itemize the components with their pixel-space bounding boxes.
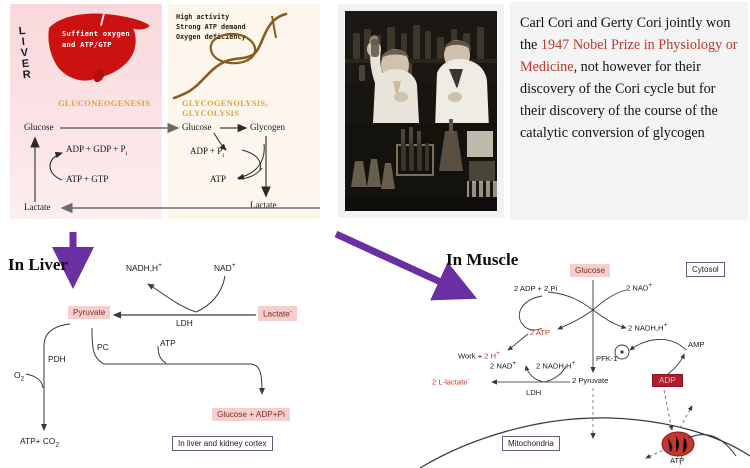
muscle-ldh-label: LDH — [526, 388, 541, 397]
liver-ldh-label: LDH — [176, 318, 193, 328]
muscle-2nad-left-label: 2 NAD+ — [490, 360, 516, 371]
muscle-amp-label: AMP — [688, 340, 704, 349]
muscle-atp-label: ATP — [670, 456, 684, 465]
mitochondria-label: Mitochondria — [502, 436, 560, 451]
muscle-pfk1-label: PFK-1 — [596, 354, 618, 363]
muscle-pyruvate-label: 2 Pyruvate — [572, 376, 608, 385]
muscle-adp-box: ADP — [652, 374, 683, 387]
muscle-glucose-box: Glucose — [570, 264, 610, 277]
slide-canvas: LIVER Suffient oxygen and ATP/GTP GLUCON… — [0, 0, 750, 468]
liver-lactate-box: Lactate- — [258, 306, 297, 321]
liver-pdh-label: PDH — [48, 354, 66, 364]
liver-kidney-cortex-note: In liver and kidney cortex — [172, 436, 273, 451]
liver-pyruvate-box: Pyruvate — [68, 306, 110, 319]
muscle-2nadh-right-label: 2 NADH,H+ — [628, 322, 667, 333]
liver-nad-label: NAD+ — [214, 262, 235, 273]
liver-atp-label: ATP — [160, 338, 176, 348]
cytosol-label: Cytosol — [686, 262, 725, 277]
muscle-adp-2pi-label: 2 ADP + 2 Pi — [514, 284, 557, 293]
muscle-2atp-label: 2 ATP — [530, 328, 550, 337]
liver-pc-label: PC — [97, 342, 109, 352]
liver-glucose-product-box: Glucose + ADP+Pi — [212, 408, 290, 421]
muscle-2nadh-left-label: 2 NADH,H+ — [536, 360, 575, 371]
in-muscle-diagram: Glucose Cytosol Mitochondria 2 ADP + 2 P… — [430, 250, 750, 468]
in-liver-diagram: Pyruvate Lactate- LDH NADH,H+ NAD+ PDH P… — [0, 250, 340, 468]
liver-nadh-label: NADH,H+ — [126, 262, 162, 273]
muscle-2nad-label: 2 NAD+ — [626, 282, 652, 293]
liver-atp-co2-label: ATP+ CO2 — [20, 436, 59, 449]
muscle-work-label: Work + 2 H+ — [458, 350, 500, 361]
muscle-lactate-label: 2 L-lactate- — [432, 376, 470, 387]
liver-o2-label: O2 — [14, 370, 24, 383]
